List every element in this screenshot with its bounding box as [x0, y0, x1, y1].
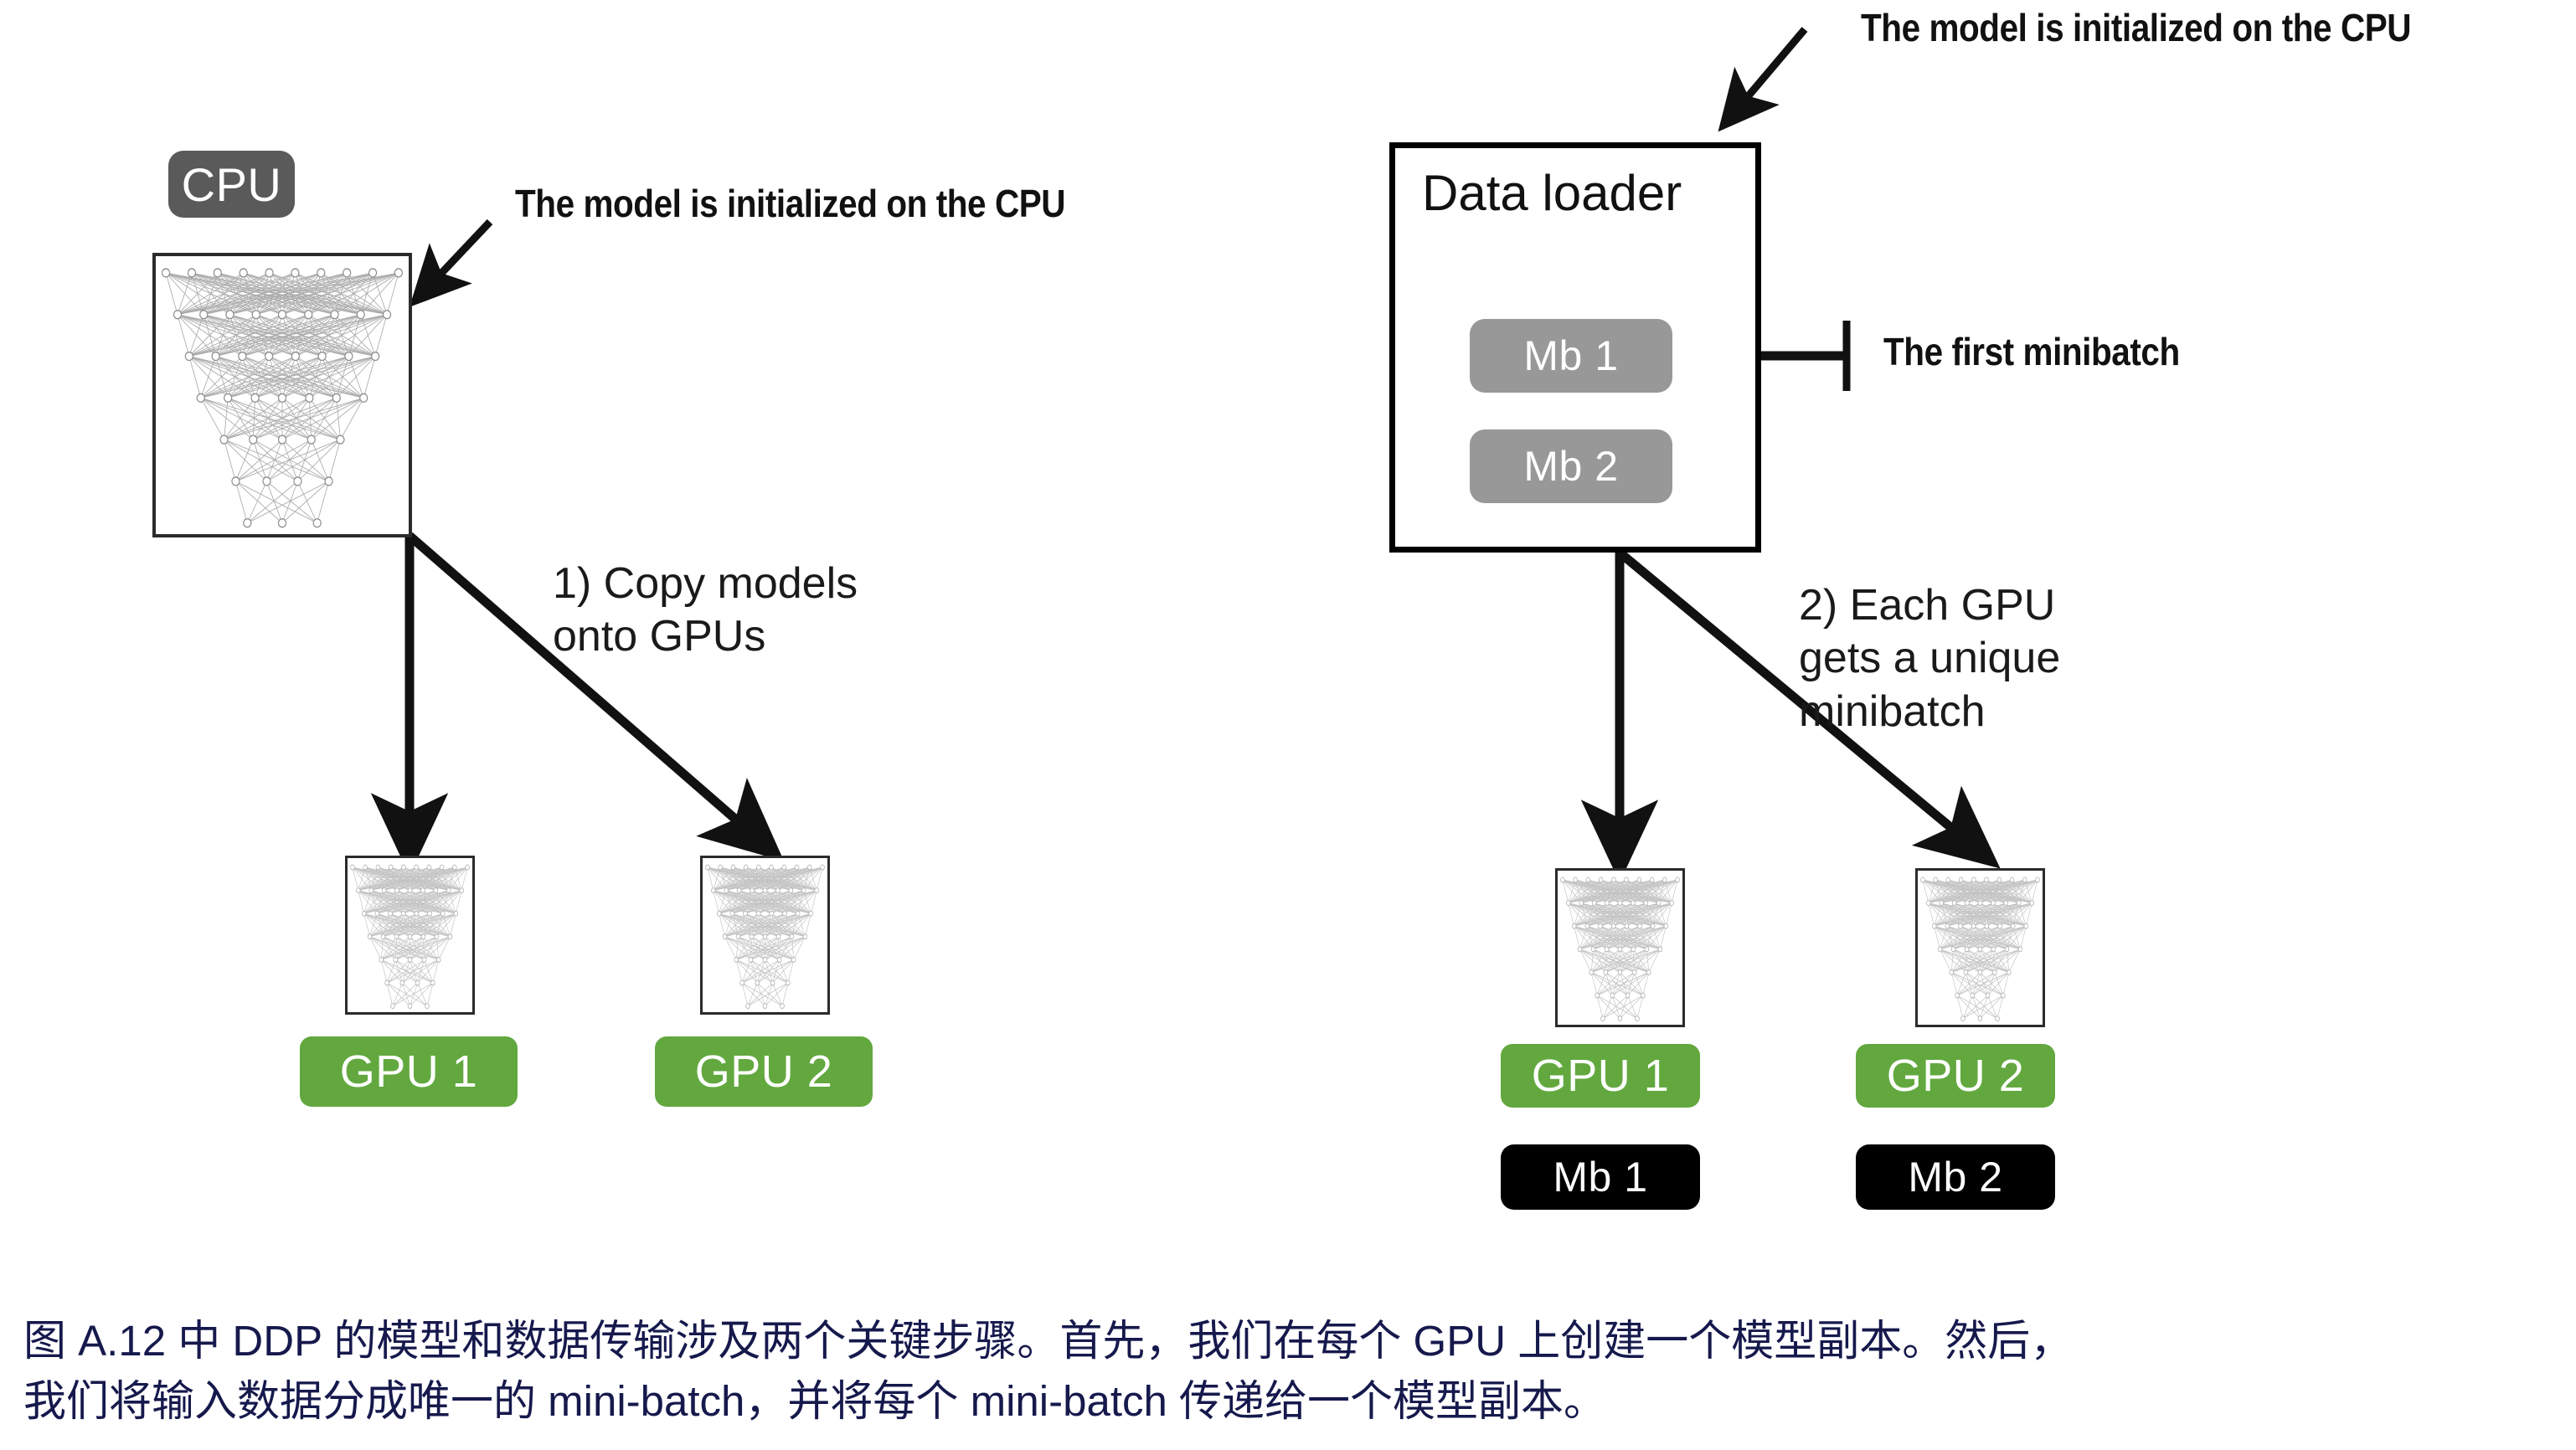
gpu-badge-2-left: GPU 2 — [655, 1036, 873, 1107]
neural-net-graphic-gpu1-right — [1558, 871, 1682, 1025]
ddp-figure: CPU The model is initialized on the CPU … — [0, 0, 2576, 1289]
neural-net-graphic-cpu — [156, 256, 409, 534]
neural-net-graphic-gpu1-left — [348, 858, 472, 1012]
annotation-model-initialized-left: The model is initialized on the CPU — [515, 181, 1065, 226]
data-loader-title: Data loader — [1422, 164, 1682, 222]
figure-caption: 图 A.12 中 DDP 的模型和数据传输涉及两个关键步骤。首先，我们在每个 G… — [23, 1311, 2561, 1432]
cpu-badge: CPU — [168, 151, 295, 218]
minibatch-badge-2: Mb 2 — [1470, 429, 1672, 503]
neural-net-graphic-gpu2-right — [1918, 871, 2043, 1025]
assigned-minibatch-1: Mb 1 — [1501, 1144, 1700, 1210]
gpu1-model-box-right — [1555, 868, 1685, 1027]
minibatch-badge-1: Mb 1 — [1470, 319, 1672, 393]
step-label-each-gpu: 2) Each GPU gets a unique minibatch — [1799, 579, 2060, 738]
gpu-badge-2-right: GPU 2 — [1856, 1044, 2055, 1108]
arrow-init-right — [1727, 29, 1805, 121]
annotation-model-initialized-right: The model is initialized on the CPU — [1861, 5, 2411, 50]
cpu-model-box — [152, 253, 412, 537]
caption-line-2: 我们将输入数据分成唯一的 mini-batch，并将每个 mini-batch … — [23, 1371, 2561, 1432]
gpu-badge-1-left: GPU 1 — [300, 1036, 518, 1107]
annotation-first-minibatch: The first minibatch — [1883, 329, 2180, 374]
gpu-badge-1-right: GPU 1 — [1501, 1044, 1700, 1108]
arrow-init-left — [419, 222, 490, 297]
neural-net-graphic-gpu2-left — [703, 858, 827, 1012]
assigned-minibatch-2: Mb 2 — [1856, 1144, 2055, 1210]
caption-line-1: 图 A.12 中 DDP 的模型和数据传输涉及两个关键步骤。首先，我们在每个 G… — [23, 1311, 2561, 1371]
gpu2-model-box-right — [1915, 868, 2045, 1027]
step-label-copy-models: 1) Copy models onto GPUs — [553, 558, 858, 664]
gpu2-model-box-left — [700, 856, 830, 1015]
gpu1-model-box-left — [345, 856, 475, 1015]
